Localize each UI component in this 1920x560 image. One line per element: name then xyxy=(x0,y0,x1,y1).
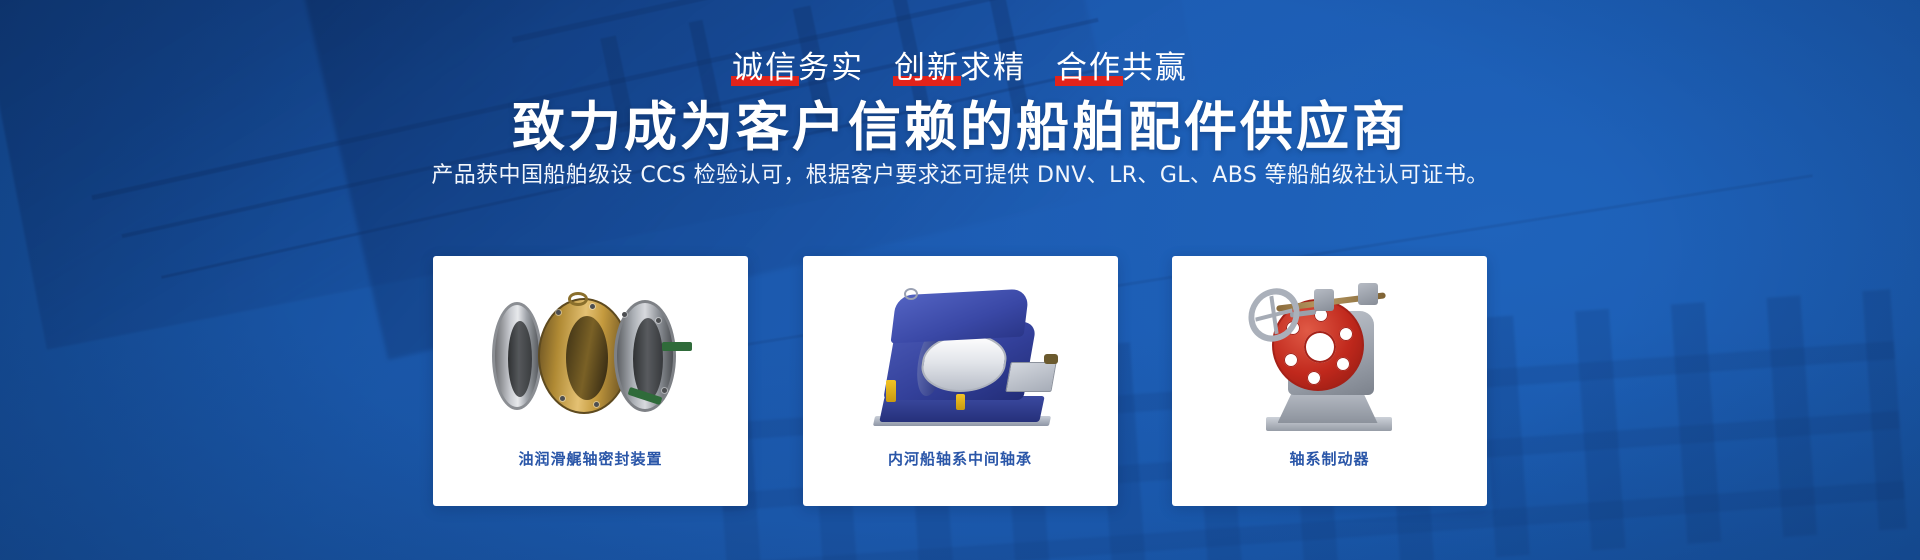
banner-tagline: 诚信务实 创新求精 合作共赢 xyxy=(0,48,1920,88)
product-image-stern-shaft-oil-seal-assembly xyxy=(466,270,716,442)
brake-rod-block xyxy=(1314,289,1334,311)
product-image-shaft-brake-device xyxy=(1205,270,1455,442)
product-card[interactable]: 油润滑艉轴密封装置 xyxy=(433,256,748,506)
seal-bolt xyxy=(556,310,561,315)
brake-illustration xyxy=(1230,281,1430,431)
seal-illustration xyxy=(486,296,696,416)
hero-banner: 诚信务实 创新求精 合作共赢 致力成为客户信赖的船舶配件供应商 产品获中国船舶级… xyxy=(0,0,1920,560)
bearing-yellow-marker xyxy=(956,394,965,410)
seal-green-tab xyxy=(662,342,692,351)
product-card-label: 轴系制动器 xyxy=(1289,448,1369,469)
tagline-phrase-text: 诚信务实 xyxy=(732,50,864,86)
brake-disc-hole xyxy=(1284,353,1298,367)
product-card-list: 油润滑艉轴密封装置 xyxy=(433,256,1487,506)
tagline-phrase-2: 创新求精 xyxy=(894,48,1026,88)
brake-disc-hub xyxy=(1304,331,1336,363)
seal-bolt xyxy=(662,388,667,393)
seal-bolt xyxy=(622,312,627,317)
product-card[interactable]: 内河船轴系中间轴承 xyxy=(803,256,1118,506)
seal-bolt xyxy=(656,318,661,323)
brake-rod-block xyxy=(1358,283,1378,305)
tagline-phrase-text: 创新求精 xyxy=(894,50,1026,86)
bearing-oil-knob xyxy=(1044,354,1058,364)
product-card-label: 油润滑艉轴密封装置 xyxy=(518,448,662,469)
tagline-phrase-3: 合作共赢 xyxy=(1056,48,1188,88)
brake-disc-hole xyxy=(1307,371,1321,385)
product-card[interactable]: 轴系制动器 xyxy=(1172,256,1487,506)
seal-bolt xyxy=(594,402,599,407)
banner-headline: 致力成为客户信赖的船舶配件供应商 xyxy=(0,96,1920,160)
product-card-label: 内河船轴系中间轴承 xyxy=(888,448,1032,469)
seal-lifting-lug xyxy=(568,292,588,306)
bearing-illustration xyxy=(860,286,1060,426)
bearing-lifting-hook xyxy=(904,288,918,300)
seal-bolt xyxy=(560,396,565,401)
brake-disc-hole xyxy=(1339,327,1353,341)
product-image-inland-vessel-intermediate-shaft-bearing xyxy=(835,270,1085,442)
tagline-phrase-text: 合作共赢 xyxy=(1056,50,1188,86)
seal-bolt xyxy=(590,304,595,309)
brake-disc-hole xyxy=(1336,357,1350,371)
bearing-side-plate xyxy=(1005,362,1056,392)
banner-subtitle: 产品获中国船舶级设 CCS 检验认可，根据客户要求还可提供 DNV、LR、GL、… xyxy=(0,160,1920,192)
seal-steel-ring-left xyxy=(492,302,542,410)
tagline-phrase-1: 诚信务实 xyxy=(732,48,864,88)
bearing-yellow-marker xyxy=(886,380,896,402)
